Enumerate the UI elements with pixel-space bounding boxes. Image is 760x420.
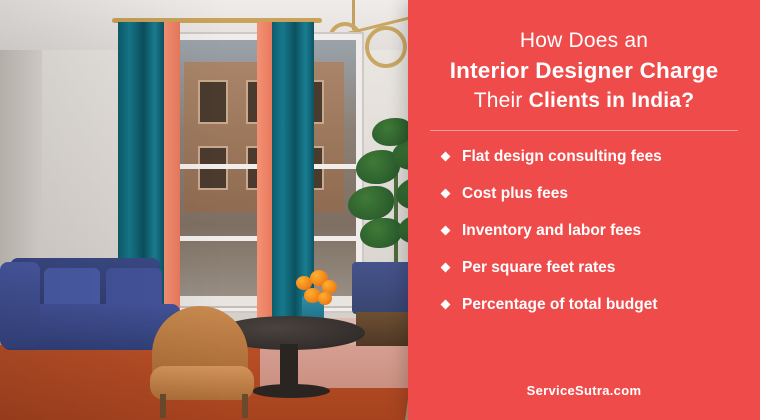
heading-line-1: How Does an xyxy=(430,26,738,56)
list-item-label: Inventory and labor fees xyxy=(462,222,641,239)
heading-line-3-bold: Clients in India? xyxy=(529,89,695,112)
list-item: Per square feet rates xyxy=(442,258,738,278)
list-item: Flat design consulting fees xyxy=(442,147,738,167)
chandelier-ring-icon xyxy=(365,26,407,68)
diamond-bullet-icon xyxy=(441,226,451,236)
list-item-label: Cost plus fees xyxy=(462,185,568,202)
list-item: Inventory and labor fees xyxy=(442,221,738,241)
curtain-stripe xyxy=(257,22,273,322)
diamond-bullet-icon xyxy=(441,263,451,273)
panel-heading: How Does an Interior Designer Charge The… xyxy=(408,0,760,116)
diamond-bullet-icon xyxy=(441,189,451,199)
coffee-table-base xyxy=(252,384,330,398)
diamond-bullet-icon xyxy=(441,152,451,162)
curtain-stripe xyxy=(164,22,180,322)
heading-line-3-plain: Their xyxy=(474,89,529,112)
list-item-label: Percentage of total budget xyxy=(462,296,658,313)
brand-label: ServiceSutra.com xyxy=(408,383,760,398)
promo-banner: How Does an Interior Designer Charge The… xyxy=(0,0,760,420)
armchair-leg xyxy=(242,394,248,418)
list-item-label: Flat design consulting fees xyxy=(462,148,662,165)
building-window xyxy=(198,80,228,124)
heading-line-3: Their Clients in India? xyxy=(430,86,738,116)
bullet-list: Flat design consulting fees Cost plus fe… xyxy=(408,147,760,315)
blue-sofa-arm xyxy=(0,262,40,348)
list-item: Cost plus fees xyxy=(442,184,738,204)
armchair-leg xyxy=(160,394,166,418)
list-item: Percentage of total budget xyxy=(442,295,738,315)
diamond-bullet-icon xyxy=(441,300,451,310)
heading-divider xyxy=(430,130,738,131)
list-item-label: Per square feet rates xyxy=(462,259,615,276)
flower xyxy=(318,292,332,305)
red-info-panel: How Does an Interior Designer Charge The… xyxy=(408,0,760,420)
heading-line-2: Interior Designer Charge xyxy=(430,56,738,86)
